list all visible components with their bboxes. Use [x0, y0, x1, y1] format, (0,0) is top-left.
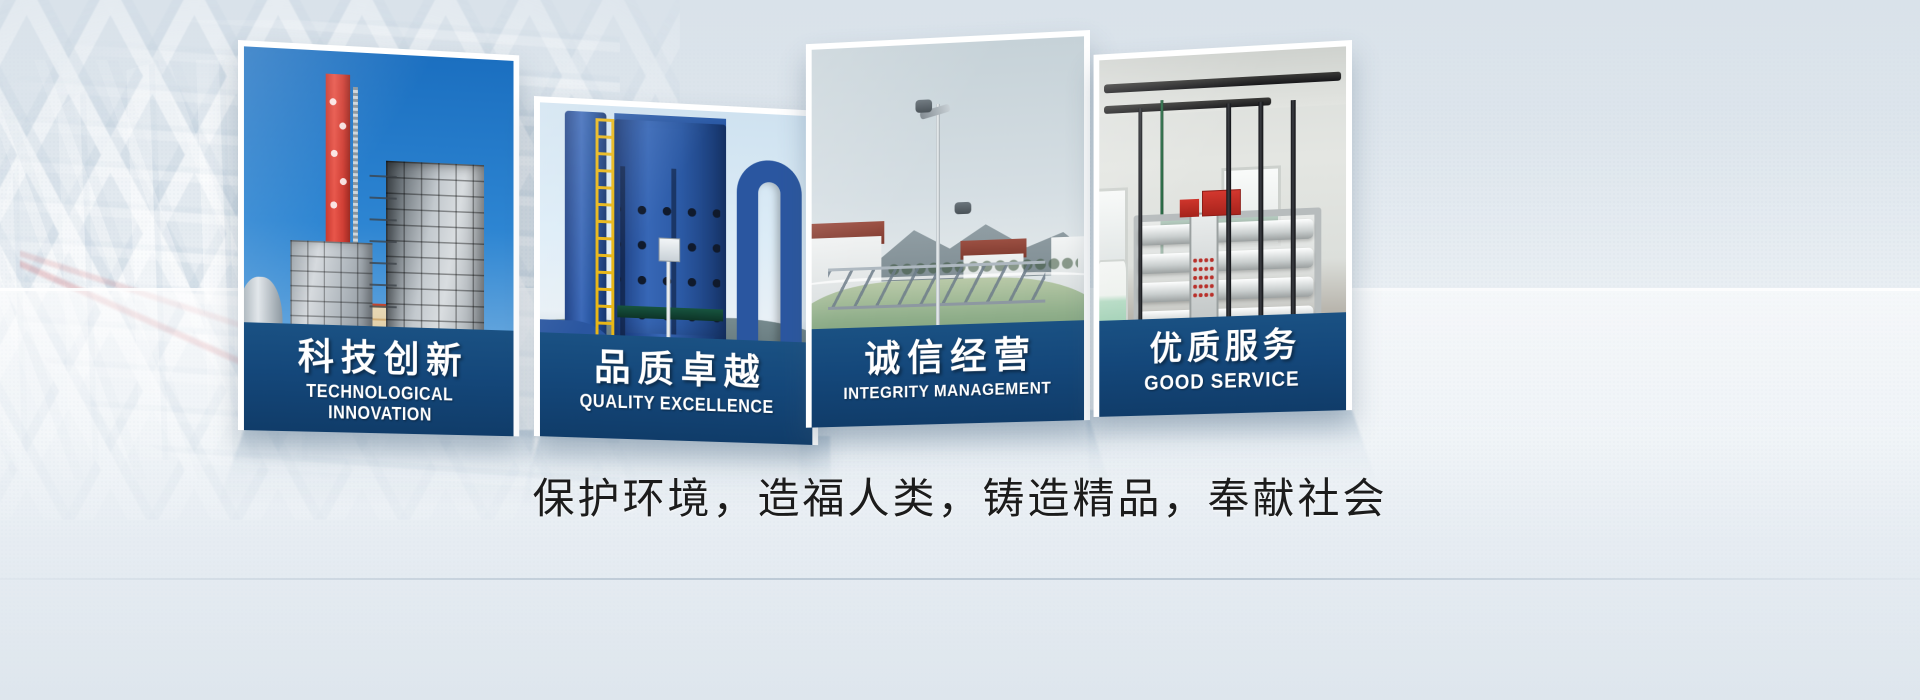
panel-photo-integrity-management: 诚信经营 INTEGRITY MANAGEMENT [812, 36, 1084, 427]
cabinet-indicator-lights [1192, 255, 1214, 299]
panel-title-en: INTEGRITY MANAGEMENT [830, 378, 1066, 405]
black-pipe-vertical [1226, 103, 1230, 334]
panel-title-cn: 诚信经营 [819, 334, 1076, 380]
panel-photo-quality-excellence: 品质卓越 QUALITY EXCELLENCE [540, 102, 812, 445]
value-panel-good-service[interactable]: 优质服务 GOOD SERVICE [1094, 40, 1352, 417]
black-pipe-vertical [1291, 100, 1295, 332]
value-panel-technological-innovation[interactable]: 科技创新 TECHNOLOGICAL INNOVATION [238, 40, 519, 436]
scaffold-platforms [369, 175, 396, 343]
street-lamp-head-secondary [955, 202, 971, 214]
control-box [658, 238, 680, 262]
panel-caption: 品质卓越 QUALITY EXCELLENCE [540, 332, 812, 445]
value-panel-integrity-management[interactable]: 诚信经营 INTEGRITY MANAGEMENT [806, 30, 1090, 428]
panel-photo-technological-innovation: 科技创新 TECHNOLOGICAL INNOVATION [244, 46, 514, 436]
black-pipe-vertical [1259, 102, 1263, 333]
panel-title-cn: 科技创新 [252, 336, 506, 382]
corporate-values-banner: 科技创新 TECHNOLOGICAL INNOVATION [0, 0, 1920, 700]
boiler-tower-left [291, 240, 373, 334]
street-lamp-head [915, 99, 931, 113]
black-pipe-vertical [1138, 108, 1142, 337]
value-panel-group: 科技创新 TECHNOLOGICAL INNOVATION [0, 0, 1920, 700]
red-warning-sign-small [1180, 198, 1200, 217]
panel-caption: 诚信经营 INTEGRITY MANAGEMENT [812, 320, 1084, 427]
panel-title-en: GOOD SERVICE [1116, 366, 1329, 396]
panel-caption: 优质服务 GOOD SERVICE [1099, 312, 1346, 417]
panel-title-en: QUALITY EXCELLENCE [558, 390, 794, 419]
panel-photo-good-service: 优质服务 GOOD SERVICE [1099, 46, 1346, 417]
panel-caption: 科技创新 TECHNOLOGICAL INNOVATION [244, 322, 514, 436]
panel-title-cn: 优质服务 [1107, 326, 1338, 369]
banner-tagline: 保护环境，造福人类，铸造精品，奉献社会 [0, 465, 1920, 526]
boiler-tower-right [386, 160, 485, 353]
panel-title-cn: 品质卓越 [548, 347, 805, 395]
panel-title-en: TECHNOLOGICAL INNOVATION [262, 379, 496, 426]
value-panel-quality-excellence[interactable]: 品质卓越 QUALITY EXCELLENCE [534, 96, 818, 445]
red-warning-sign [1202, 189, 1241, 216]
